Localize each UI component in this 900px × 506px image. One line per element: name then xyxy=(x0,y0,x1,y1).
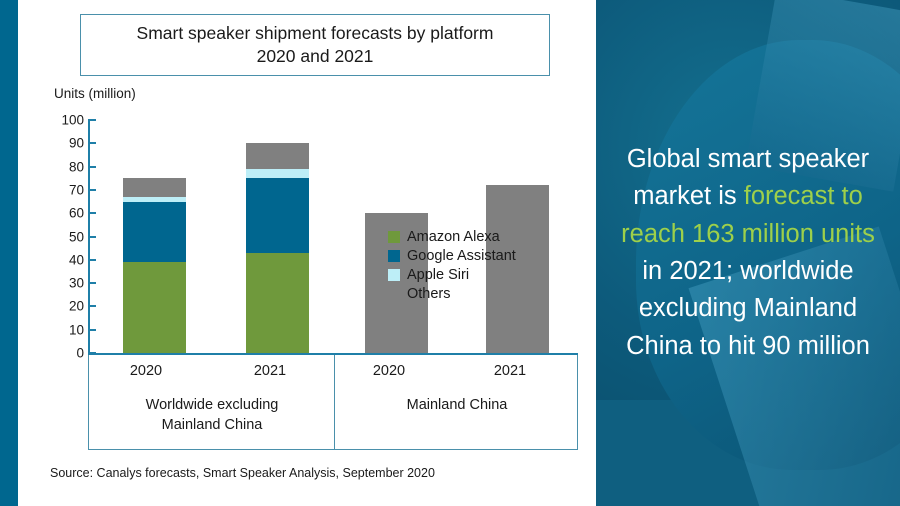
legend-label: Google Assistant xyxy=(407,248,516,264)
chart-title-line1: Smart speaker shipment forecasts by plat… xyxy=(137,23,494,43)
bar-segment-others[interactable] xyxy=(246,143,309,169)
bar-worldwide-2020[interactable] xyxy=(123,178,186,353)
x-label-cn-2021: 2021 xyxy=(470,363,550,379)
bar-segment-google-assistant[interactable] xyxy=(123,202,186,263)
bar-segment-google-assistant[interactable] xyxy=(246,178,309,253)
category-group-divider xyxy=(334,355,335,450)
legend-item-google-assistant[interactable]: Google Assistant xyxy=(388,248,516,264)
legend-label: Apple Siri xyxy=(407,267,469,283)
chart-panel: Smart speaker shipment forecasts by plat… xyxy=(18,0,596,506)
chart-title-box: Smart speaker shipment forecasts by plat… xyxy=(80,14,550,76)
y-tick-mark-0 xyxy=(88,352,96,354)
group-label-worldwide-line1: Worldwide excluding xyxy=(146,397,279,413)
legend-swatch-icon xyxy=(388,250,400,262)
chart-legend: Amazon AlexaGoogle AssistantApple SiriOt… xyxy=(388,229,516,305)
y-tick-mark-20 xyxy=(88,305,96,307)
legend-label: Amazon Alexa xyxy=(407,229,500,245)
x-label-wwexcn-2021: 2021 xyxy=(230,363,310,379)
bar-segment-apple-siri[interactable] xyxy=(123,197,186,202)
plot-area: 1009080706050403020100 Amazon AlexaGoogl… xyxy=(36,110,596,370)
left-accent-strip xyxy=(0,0,18,506)
bar-segment-amazon-alexa[interactable] xyxy=(123,262,186,353)
group-label-china-line1: Mainland China xyxy=(407,397,508,413)
bar-worldwide-2021[interactable] xyxy=(246,143,309,353)
callout-text-part2: in 2021; worldwide excluding Mainland Ch… xyxy=(626,257,870,360)
y-tick-mark-80 xyxy=(88,166,96,168)
y-tick-mark-70 xyxy=(88,189,96,191)
y-axis-units-label: Units (million) xyxy=(54,86,136,101)
legend-item-amazon-alexa[interactable]: Amazon Alexa xyxy=(388,229,516,245)
legend-swatch-icon xyxy=(388,269,400,281)
legend-swatch-icon xyxy=(388,288,400,300)
y-tick-mark-50 xyxy=(88,236,96,238)
chart-title: Smart speaker shipment forecasts by plat… xyxy=(129,22,502,68)
callout-text-wrapper: Global smart speaker market is forecast … xyxy=(596,0,900,506)
bar-segment-others[interactable] xyxy=(123,178,186,197)
legend-label: Others xyxy=(407,286,451,302)
bar-segment-apple-siri[interactable] xyxy=(246,169,309,178)
group-label-worldwide: Worldwide excluding Mainland China xyxy=(90,396,334,435)
y-tick-mark-10 xyxy=(88,329,96,331)
callout-paragraph: Global smart speaker market is forecast … xyxy=(610,141,886,366)
group-label-china: Mainland China xyxy=(336,396,578,416)
callout-panel: Global smart speaker market is forecast … xyxy=(596,0,900,506)
y-tick-mark-100 xyxy=(88,119,96,121)
y-tick-mark-90 xyxy=(88,142,96,144)
group-label-worldwide-line2: Mainland China xyxy=(162,417,263,433)
chart-title-line2: 2020 and 2021 xyxy=(257,46,374,66)
legend-item-apple-siri[interactable]: Apple Siri xyxy=(388,267,516,283)
source-note: Source: Canalys forecasts, Smart Speaker… xyxy=(50,466,435,480)
y-tick-mark-30 xyxy=(88,282,96,284)
y-tick-mark-40 xyxy=(88,259,96,261)
legend-item-others[interactable]: Others xyxy=(388,286,516,302)
y-tick-mark-60 xyxy=(88,212,96,214)
bar-segment-amazon-alexa[interactable] xyxy=(246,253,309,353)
legend-swatch-icon xyxy=(388,231,400,243)
x-label-cn-2020: 2020 xyxy=(349,363,429,379)
x-label-wwexcn-2020: 2020 xyxy=(106,363,186,379)
